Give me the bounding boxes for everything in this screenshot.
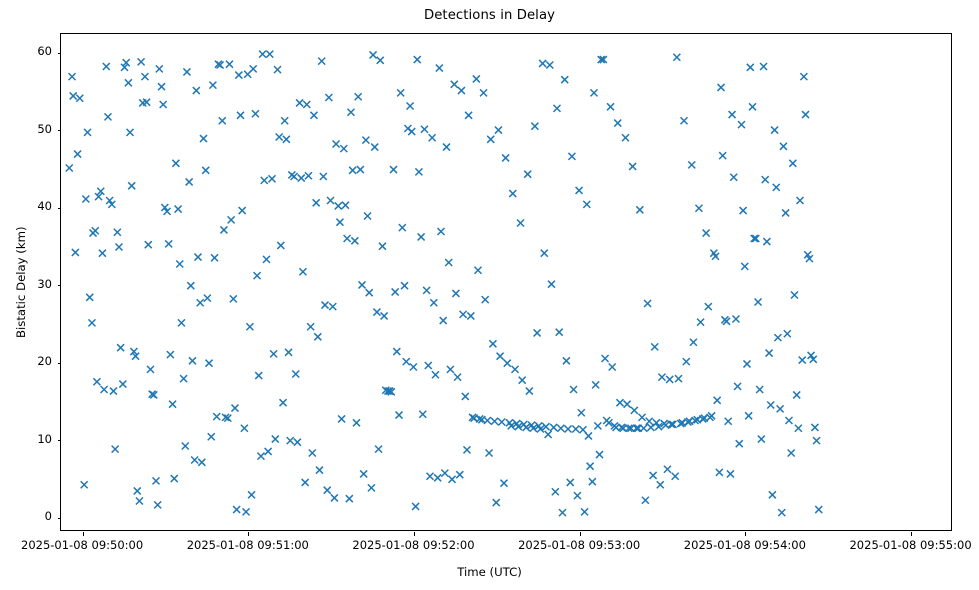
- detection-marker: [740, 207, 747, 214]
- detection-marker: [585, 432, 592, 439]
- detection-marker: [504, 360, 511, 367]
- detection-marker: [239, 207, 246, 214]
- detection-marker: [531, 123, 538, 130]
- detection-marker: [491, 418, 498, 425]
- detection-marker: [785, 417, 792, 424]
- detection-marker: [93, 378, 100, 385]
- detection-marker: [250, 65, 257, 72]
- detection-marker: [415, 168, 422, 175]
- detection-marker: [82, 195, 89, 202]
- detection-marker: [454, 374, 461, 381]
- x-tick-label-0: 2025-01-08 09:50:00: [21, 538, 143, 552]
- detection-marker: [639, 414, 646, 421]
- detection-marker: [714, 397, 721, 404]
- detection-marker: [421, 126, 428, 133]
- detection-marker: [451, 81, 458, 88]
- scatter-svg: [61, 34, 951, 530]
- detection-marker: [175, 206, 182, 213]
- detection-marker: [546, 61, 553, 68]
- detection-marker: [581, 508, 588, 515]
- detection-marker: [747, 64, 754, 71]
- y-tick-label-60: 60: [0, 44, 52, 58]
- detection-marker: [112, 446, 119, 453]
- detection-marker: [493, 499, 500, 506]
- detection-marker: [410, 364, 417, 371]
- detection-marker: [438, 228, 445, 235]
- x-tick-3: [580, 532, 581, 536]
- detection-marker: [117, 344, 124, 351]
- detection-marker: [773, 184, 780, 191]
- detection-marker: [484, 417, 491, 424]
- detection-marker: [441, 470, 448, 477]
- detection-marker: [524, 171, 531, 178]
- detection-marker: [74, 151, 81, 158]
- y-tick-label-10: 10: [0, 432, 52, 446]
- detection-marker: [502, 154, 509, 161]
- detection-marker: [509, 190, 516, 197]
- detection-marker: [125, 79, 132, 86]
- detection-marker: [320, 173, 327, 180]
- detection-marker: [160, 101, 167, 108]
- detection-marker: [675, 375, 682, 382]
- detection-marker: [730, 174, 737, 181]
- detection-marker: [574, 492, 581, 499]
- detection-marker: [403, 358, 410, 365]
- detection-marker: [650, 472, 657, 479]
- detection-marker: [734, 383, 741, 390]
- x-tick-label-1: 2025-01-08 09:51:00: [187, 538, 309, 552]
- x-axis-label: Time (UTC): [0, 565, 979, 579]
- x-tick-label-5: 2025-01-08 09:55:00: [849, 538, 971, 552]
- detection-marker: [500, 480, 507, 487]
- detection-marker: [171, 475, 178, 482]
- x-tick-label-3: 2025-01-08 09:53:00: [518, 538, 640, 552]
- detection-marker: [299, 268, 306, 275]
- detection-marker: [305, 172, 312, 179]
- detection-marker: [666, 376, 673, 383]
- detection-marker: [802, 111, 809, 118]
- detection-marker: [88, 319, 95, 326]
- detection-marker: [364, 213, 371, 220]
- detection-marker: [399, 224, 406, 231]
- detection-marker: [248, 491, 255, 498]
- detection-marker: [642, 497, 649, 504]
- detection-marker: [640, 425, 647, 432]
- detection-marker: [183, 68, 190, 75]
- detection-marker: [70, 92, 77, 99]
- detection-marker: [220, 226, 227, 233]
- detection-marker: [370, 51, 377, 58]
- detection-marker: [791, 292, 798, 299]
- detection-marker: [789, 160, 796, 167]
- detection-marker: [755, 298, 762, 305]
- detection-marker: [213, 413, 220, 420]
- detection-marker: [467, 312, 474, 319]
- detection-marker: [287, 437, 294, 444]
- detection-marker: [373, 309, 380, 316]
- detection-marker: [583, 201, 590, 208]
- detection-marker: [313, 199, 320, 206]
- detection-marker: [277, 242, 284, 249]
- detection-marker: [412, 503, 419, 510]
- detection-marker: [745, 412, 752, 419]
- detection-marker: [86, 294, 93, 301]
- x-tick-4: [745, 532, 746, 536]
- detection-marker: [291, 173, 298, 180]
- detection-marker: [257, 453, 264, 460]
- detection-marker: [651, 343, 658, 350]
- detection-marker: [318, 58, 325, 65]
- detection-marker: [285, 349, 292, 356]
- detection-marker: [683, 358, 690, 365]
- detection-marker: [725, 418, 732, 425]
- detection-marker: [355, 93, 362, 100]
- detection-marker: [178, 319, 185, 326]
- detection-marker: [736, 440, 743, 447]
- detection-marker: [158, 83, 165, 90]
- detection-marker: [325, 94, 332, 101]
- detection-marker: [237, 112, 244, 119]
- detection-marker: [771, 127, 778, 134]
- detection-marker: [307, 323, 314, 330]
- detection-marker: [567, 479, 574, 486]
- detection-marker: [541, 250, 548, 257]
- detection-marker: [545, 431, 552, 438]
- detection-marker: [556, 329, 563, 336]
- detection-marker: [596, 451, 603, 458]
- detection-marker: [495, 127, 502, 134]
- detection-marker: [672, 473, 679, 480]
- detection-marker: [423, 287, 430, 294]
- detection-marker: [609, 364, 616, 371]
- detection-marker: [76, 95, 83, 102]
- detection-marker: [762, 176, 769, 183]
- detection-marker: [141, 73, 148, 80]
- detection-marker: [110, 388, 117, 395]
- detection-marker: [782, 209, 789, 216]
- detection-marker: [335, 202, 342, 209]
- detection-marker: [246, 323, 253, 330]
- detection-marker: [303, 101, 310, 108]
- detection-marker: [377, 57, 384, 64]
- page-title: Detections in Delay: [0, 8, 979, 23]
- detection-marker: [156, 65, 163, 72]
- detection-marker: [226, 61, 233, 68]
- detection-marker: [462, 393, 469, 400]
- detection-marker: [167, 351, 174, 358]
- x-tick-1: [248, 532, 249, 536]
- detection-marker: [390, 166, 397, 173]
- detection-marker: [101, 386, 108, 393]
- detection-marker: [769, 491, 776, 498]
- detection-marker: [134, 487, 141, 494]
- detection-marker: [458, 87, 465, 94]
- detection-marker: [697, 319, 704, 326]
- detection-marker: [572, 425, 579, 432]
- detection-marker: [563, 357, 570, 364]
- detection-marker: [268, 175, 275, 182]
- detection-marker: [200, 135, 207, 142]
- y-axis-label: Bistatic Delay (km): [14, 226, 28, 338]
- detection-marker: [695, 205, 702, 212]
- detection-marker: [690, 339, 697, 346]
- detection-marker: [136, 498, 143, 505]
- detection-marker: [375, 446, 382, 453]
- detection-marker: [592, 381, 599, 388]
- detection-marker: [206, 360, 213, 367]
- detection-marker: [688, 161, 695, 168]
- detection-marker: [265, 448, 272, 455]
- detection-marker: [368, 484, 375, 491]
- detection-marker: [741, 263, 748, 270]
- detection-marker: [261, 177, 268, 184]
- detection-marker: [186, 178, 193, 185]
- detection-marker: [784, 330, 791, 337]
- detection-marker: [777, 405, 784, 412]
- detection-marker: [359, 281, 366, 288]
- detection-marker: [127, 129, 134, 136]
- detection-marker: [568, 153, 575, 160]
- detection-marker: [272, 436, 279, 443]
- detection-marker: [646, 418, 653, 425]
- detection-marker: [460, 311, 467, 318]
- detection-marker: [381, 312, 388, 319]
- detection-marker: [392, 288, 399, 295]
- detection-marker: [480, 89, 487, 96]
- detection-marker: [561, 76, 568, 83]
- detection-marker: [425, 362, 432, 369]
- detection-marker: [333, 140, 340, 147]
- detection-marker: [718, 84, 725, 91]
- detection-marker: [512, 366, 519, 373]
- detection-marker: [432, 371, 439, 378]
- detection-marker: [69, 73, 76, 80]
- detection-marker: [351, 237, 358, 244]
- detection-marker: [526, 388, 533, 395]
- detection-marker: [254, 272, 261, 279]
- detection-marker: [408, 128, 415, 135]
- detection-marker: [202, 167, 209, 174]
- detection-marker: [763, 238, 770, 245]
- detection-marker: [489, 340, 496, 347]
- detection-marker: [296, 99, 303, 106]
- detection-marker: [176, 261, 183, 268]
- x-tick-label-4: 2025-01-08 09:54:00: [684, 538, 806, 552]
- detection-marker: [657, 481, 664, 488]
- detection-marker: [590, 89, 597, 96]
- detection-marker: [497, 353, 504, 360]
- detection-marker: [552, 488, 559, 495]
- detection-marker: [419, 411, 426, 418]
- detection-marker: [316, 467, 323, 474]
- detection-marker: [578, 409, 585, 416]
- detection-marker: [429, 134, 436, 141]
- detection-marker: [396, 412, 403, 419]
- detection-marker: [338, 415, 345, 422]
- detection-marker: [379, 243, 386, 250]
- detection-marker: [309, 450, 316, 457]
- detection-marker: [281, 117, 288, 124]
- detection-marker: [644, 300, 651, 307]
- detection-marker: [703, 230, 710, 237]
- detection-marker: [449, 476, 456, 483]
- detection-marker: [447, 366, 454, 373]
- detection-marker: [758, 436, 765, 443]
- detection-marker: [517, 219, 524, 226]
- detection-marker: [252, 110, 259, 117]
- detection-marker: [208, 433, 215, 440]
- detection-marker: [270, 350, 277, 357]
- detection-marker: [452, 290, 459, 297]
- detection-marker: [811, 424, 818, 431]
- detection-marker: [766, 350, 773, 357]
- detection-marker: [235, 72, 242, 79]
- detection-marker: [204, 295, 211, 302]
- detection-marker: [298, 175, 305, 182]
- detection-marker: [815, 506, 822, 513]
- detection-marker: [302, 479, 309, 486]
- detection-marker: [219, 117, 226, 124]
- detection-marker: [767, 401, 774, 408]
- detection-marker: [230, 295, 237, 302]
- detection-marker: [189, 357, 196, 364]
- detection-marker: [191, 456, 198, 463]
- detection-marker: [729, 111, 736, 118]
- detection-marker: [780, 143, 787, 150]
- detection-marker: [165, 240, 172, 247]
- detection-marker: [187, 282, 194, 289]
- detection-marker: [430, 299, 437, 306]
- detection-marker: [283, 136, 290, 143]
- detection-marker: [228, 216, 235, 223]
- detection-marker: [255, 372, 262, 379]
- y-tick-label-50: 50: [0, 122, 52, 136]
- detection-marker: [397, 89, 404, 96]
- detection-marker: [418, 233, 425, 240]
- detection-marker: [193, 87, 200, 94]
- detection-marker: [349, 167, 356, 174]
- detection-marker: [393, 348, 400, 355]
- y-tick-label-0: 0: [0, 509, 52, 523]
- detection-marker: [324, 487, 331, 494]
- detection-marker: [266, 51, 273, 58]
- detection-marker: [749, 103, 756, 110]
- detection-marker: [719, 152, 726, 159]
- detection-marker: [99, 250, 106, 257]
- detection-marker: [147, 366, 154, 373]
- detection-marker: [760, 63, 767, 70]
- detection-marker: [774, 334, 781, 341]
- x-tick-5: [911, 532, 912, 536]
- detection-marker: [658, 374, 665, 381]
- detection-marker: [486, 450, 493, 457]
- detection-marker: [336, 219, 343, 226]
- detection-marker: [103, 63, 110, 70]
- detection-marker: [440, 317, 447, 324]
- detection-marker: [681, 117, 688, 124]
- detection-marker: [233, 506, 240, 513]
- detection-marker: [414, 56, 421, 63]
- detection-marker: [66, 164, 73, 171]
- detection-marker: [114, 229, 121, 236]
- detection-marker: [705, 303, 712, 310]
- detection-marker: [559, 509, 566, 516]
- detection-marker: [198, 459, 205, 466]
- detection-marker: [795, 425, 802, 432]
- detection-marker: [732, 316, 739, 323]
- detection-marker: [813, 437, 820, 444]
- detection-marker: [673, 54, 680, 61]
- detection-marker: [331, 494, 338, 501]
- detection-marker: [788, 450, 795, 457]
- detection-marker: [636, 206, 643, 213]
- matplotlib-figure: Detections in Delay 0102030405060 2025-0…: [0, 0, 979, 590]
- detection-marker: [357, 166, 364, 173]
- detection-marker: [519, 377, 526, 384]
- detection-marker: [243, 508, 250, 515]
- detection-marker: [128, 182, 135, 189]
- y-tick-label-40: 40: [0, 199, 52, 213]
- detection-marker: [344, 235, 351, 242]
- detection-marker: [211, 254, 218, 261]
- detection-marker: [84, 129, 91, 136]
- detection-marker: [443, 144, 450, 151]
- detection-marker: [548, 281, 555, 288]
- detection-marker: [92, 227, 99, 234]
- plot-axes: [60, 33, 952, 531]
- detection-marker: [614, 120, 621, 127]
- detection-marker: [587, 463, 594, 470]
- detection-marker: [407, 103, 414, 110]
- detection-marker: [280, 399, 287, 406]
- detection-marker: [115, 243, 122, 250]
- detection-marker: [371, 144, 378, 151]
- scatter-points-layer: [61, 34, 951, 530]
- detection-marker: [310, 112, 317, 119]
- detection-marker: [793, 391, 800, 398]
- detection-marker: [263, 256, 270, 263]
- x-tick-0: [83, 532, 84, 536]
- detection-marker: [738, 121, 745, 128]
- detection-marker: [557, 425, 564, 432]
- detection-marker: [553, 105, 560, 112]
- detection-marker: [353, 419, 360, 426]
- detection-marker: [329, 303, 336, 310]
- detection-marker: [259, 51, 266, 58]
- detection-marker: [346, 495, 353, 502]
- detection-marker: [340, 145, 347, 152]
- detection-marker: [327, 197, 334, 204]
- detection-marker: [209, 82, 216, 89]
- detection-marker: [172, 160, 179, 167]
- detection-marker: [274, 66, 281, 73]
- detection-marker: [81, 481, 88, 488]
- x-tick-2: [414, 532, 415, 536]
- detection-marker: [550, 424, 557, 431]
- detection-marker: [475, 267, 482, 274]
- detection-marker: [463, 446, 470, 453]
- detection-marker: [72, 249, 79, 256]
- detection-marker: [434, 474, 441, 481]
- detection-marker: [456, 471, 463, 478]
- detection-marker: [241, 425, 248, 432]
- detection-marker: [292, 371, 299, 378]
- detection-marker: [498, 419, 505, 426]
- detection-marker: [716, 469, 723, 476]
- detection-marker: [153, 477, 160, 484]
- detection-marker: [797, 197, 804, 204]
- detection-marker: [594, 422, 601, 429]
